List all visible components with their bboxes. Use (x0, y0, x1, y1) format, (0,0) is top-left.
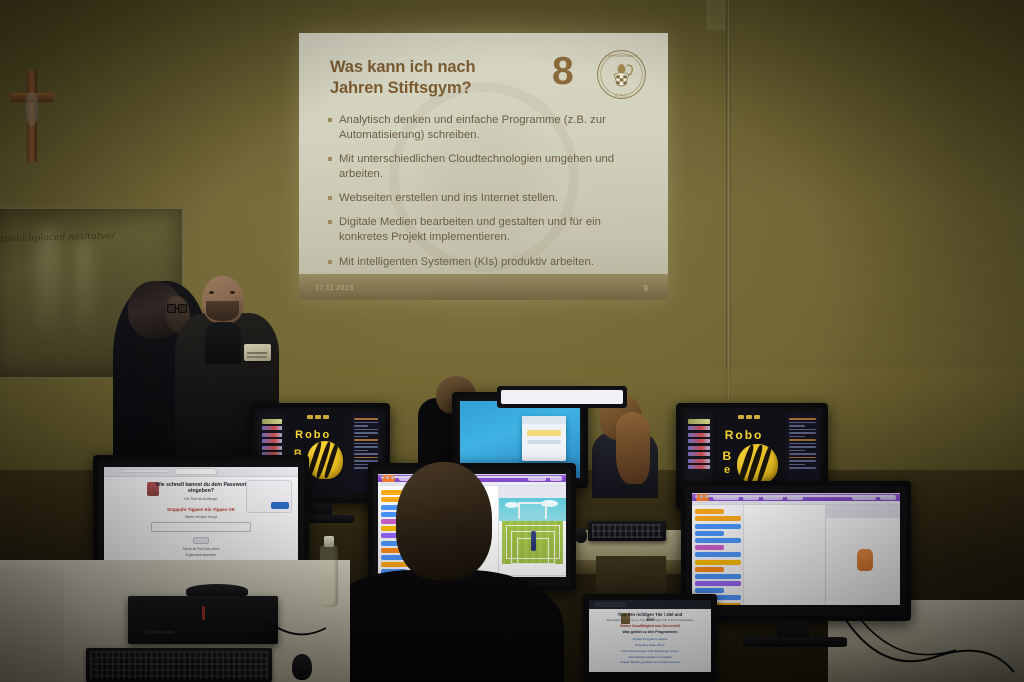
start-button[interactable] (193, 537, 209, 544)
laptop-link[interactable]: Cloud Technologien und Werkzeuge nutzen (589, 649, 711, 653)
scratch-stage-view[interactable] (499, 498, 566, 575)
laptop-bottom-center[interactable]: Tipp den richtigen Tier / Ziel und Ziel … (583, 594, 717, 682)
laptop-page[interactable]: Tipp den richtigen Tier / Ziel und Ziel … (589, 600, 711, 672)
power-led-icon (202, 606, 205, 620)
monitor-back-far[interactable] (497, 386, 627, 408)
slide-bullet-list: Analytisch denken und einfache Programme… (328, 113, 648, 279)
slide-big-number: 8 (552, 52, 574, 91)
slide-bullet: Analytisch denken und einfache Programme… (328, 113, 648, 143)
presenter-beard (206, 301, 239, 321)
monitor-front-right-base (743, 637, 847, 647)
cables-left (262, 616, 332, 666)
stage-player-sprite (531, 531, 536, 551)
password-input[interactable] (151, 522, 252, 532)
slide-title-line1: Was kann ich nach (330, 57, 550, 78)
footer-link-1[interactable]: Sende dir Profi-Zeit online (104, 547, 298, 551)
address-bar-right[interactable] (708, 495, 894, 497)
projected-slide: Was kann ich nach Jahren Stiftsgym? 8 ST… (299, 33, 668, 300)
classroom-scene: stpaul.bplaced.net/tutve/ Was kann ich n… (0, 0, 1024, 682)
laptop-link[interactable]: Scratch Programm starten (589, 637, 711, 641)
laptop-link[interactable]: Robo Bee Seite öffnen (589, 643, 711, 647)
robo-label-2: Robo (725, 428, 764, 442)
scratch-stage-view-right[interactable] (826, 518, 900, 605)
student-front-center-head (396, 462, 492, 580)
slide-bullet: Webseiten erstellen und ins Internet ste… (328, 191, 648, 206)
scratch-cat-sprite (857, 549, 873, 571)
bee-illustration (307, 441, 343, 479)
scratch-stage-panel[interactable] (498, 486, 566, 577)
laptop-browser-tab[interactable] (594, 602, 626, 607)
page-small-line: Starte mit dem Knopf (104, 515, 298, 519)
scratch-block-palette-right[interactable] (692, 505, 744, 605)
whiteboard-glare-right (74, 240, 94, 334)
login-window[interactable] (522, 416, 565, 461)
whiteboard-glare-left (36, 228, 60, 334)
stage-goal (518, 502, 547, 519)
slide-page-number: 9 (644, 284, 648, 293)
bee-label-2b: B (723, 449, 734, 463)
water-bottle (320, 545, 338, 607)
scratch-editor-blank[interactable] (692, 493, 900, 605)
robo-bee-tabs[interactable] (307, 415, 329, 419)
desktop-pc: ThinkCentre (128, 596, 278, 644)
keyboard-front-left[interactable] (86, 648, 272, 682)
address-bar[interactable] (120, 469, 170, 473)
browser-tab[interactable] (174, 468, 217, 475)
scratch-stage-panel-right[interactable] (825, 505, 900, 605)
crucifix-icon (10, 70, 54, 162)
laptop-link[interactable]: Projekt Medien gestalten und implementie… (589, 660, 711, 664)
svg-text:STIFTSGYMNASIUM: STIFTSGYMNASIUM (605, 54, 637, 58)
footer-link-2[interactable]: Ergebnisse speichern (104, 553, 298, 557)
cables-right (838, 614, 1018, 682)
presenter-eyes (208, 291, 237, 294)
laptop-link[interactable]: Internetseite erstellen und stellen (589, 655, 711, 659)
scratch-code-canvas-right[interactable] (744, 505, 825, 605)
laptop-browser-chrome[interactable] (589, 600, 711, 609)
bee-illustration-2 (737, 444, 778, 485)
popup-dialog[interactable] (246, 480, 293, 513)
school-seal-icon: STIFTSGYMNASIUM ST. PAUL (595, 48, 648, 101)
glasses-icon (167, 304, 189, 313)
cables (510, 600, 570, 660)
slide-bullet: Mit unterschiedlichen Cloudtechnologien … (328, 152, 648, 182)
bee-label-2e1: e (724, 464, 732, 476)
slide-bullet: Mit intelligenten Systemen (KIs) produkt… (328, 255, 648, 270)
browser-chrome[interactable] (104, 467, 298, 477)
wall-seam-top (706, 0, 726, 30)
browser-chrome-right[interactable] (692, 493, 900, 494)
slide-title: Was kann ich nach Jahren Stiftsgym? (330, 57, 550, 99)
bottle-cap (324, 536, 334, 547)
presenter-shirt (205, 322, 241, 364)
robo-label: Robo (295, 429, 331, 441)
slide-date: 17.11.2023 (315, 285, 354, 292)
slide-title-line2: Jahren Stiftsgym? (330, 78, 550, 99)
student-girl-hair (616, 412, 650, 484)
laptop-red-line: Starten Cloudfähigkeit zum Ziel erreicht (589, 624, 711, 628)
wall-seam (726, 0, 731, 400)
pc-brand-label: ThinkCentre (144, 630, 175, 636)
name-badge (244, 344, 271, 361)
robo-bee-tabs-2[interactable] (738, 415, 760, 419)
keyboard-middle[interactable] (588, 521, 666, 541)
slide-bullet: Digitale Medien bearbeiten und gestalten… (328, 215, 648, 245)
laptop-section: Was gehört zu den Programmen (589, 630, 711, 634)
slide-footer-bar (299, 274, 668, 300)
desk-front-left (0, 568, 64, 682)
svg-text:ST. PAUL: ST. PAUL (615, 94, 628, 98)
laptop-subtext: Drucktaste Einführung zum Tipp dem richt… (589, 619, 711, 622)
mouse-middle[interactable] (575, 528, 587, 543)
popup-confirm-button[interactable] (271, 502, 289, 509)
